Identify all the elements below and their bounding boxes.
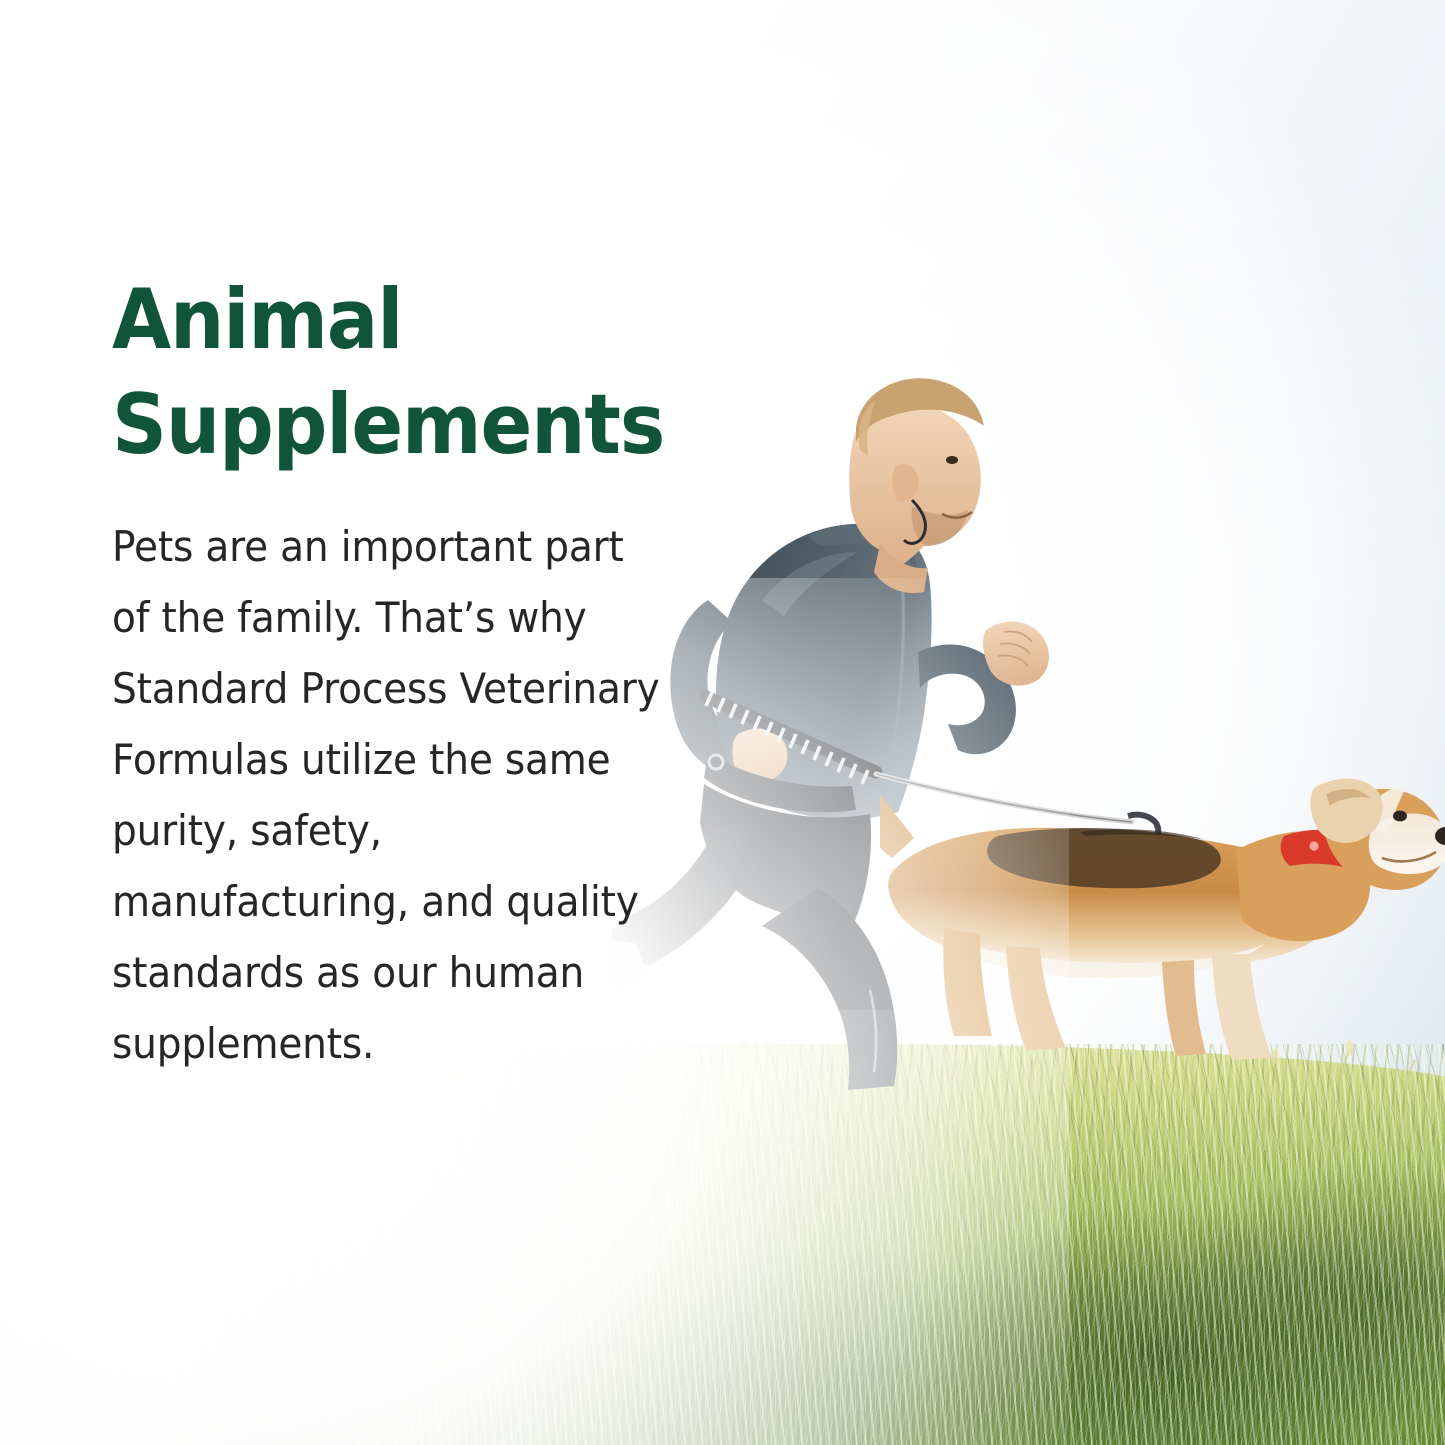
copy-block: Animal Supplements Pets are an important… <box>112 268 702 1079</box>
dog-collar-stud <box>1309 841 1318 850</box>
body-paragraph: Pets are an important part of the family… <box>112 511 661 1079</box>
page-title: Animal Supplements <box>112 268 655 477</box>
dog-figure <box>880 740 1445 1140</box>
leash-bungee-core <box>704 696 876 772</box>
runner-front-leg <box>762 888 897 1090</box>
promo-banner: Animal Supplements Pets are an important… <box>0 0 1445 1445</box>
dog-tail <box>880 770 914 858</box>
dog-front-leg-far <box>1162 960 1206 1056</box>
runner-eye <box>946 456 958 464</box>
dog-front-leg-near <box>1212 954 1272 1060</box>
dog-eye <box>1393 811 1407 822</box>
